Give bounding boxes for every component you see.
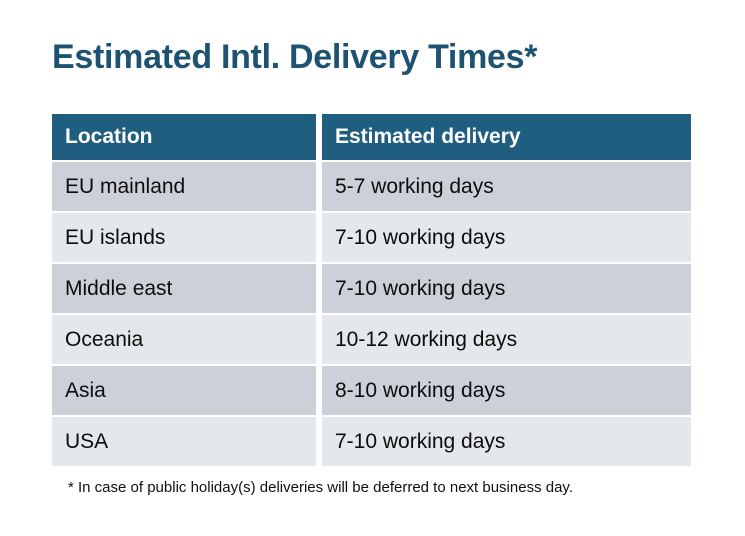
table-row: USA 7-10 working days <box>52 417 691 466</box>
footnote: * In case of public holiday(s) deliverie… <box>68 478 573 498</box>
cell-estimated-delivery: 7-10 working days <box>322 213 691 262</box>
cell-location: USA <box>52 417 316 466</box>
cell-location: Middle east <box>52 264 316 313</box>
table-row: EU islands 7-10 working days <box>52 213 691 262</box>
cell-estimated-delivery: 7-10 working days <box>322 264 691 313</box>
delivery-times-page: Estimated Intl. Delivery Times* Location… <box>0 0 745 536</box>
table-row: Asia 8-10 working days <box>52 366 691 415</box>
cell-location: EU islands <box>52 213 316 262</box>
table-row: Middle east 7-10 working days <box>52 264 691 313</box>
cell-estimated-delivery: 8-10 working days <box>322 366 691 415</box>
cell-location: EU mainland <box>52 162 316 211</box>
table-row: EU mainland 5-7 working days <box>52 162 691 211</box>
delivery-times-table: Location Estimated delivery EU mainland … <box>52 114 691 466</box>
page-title: Estimated Intl. Delivery Times* <box>52 36 537 78</box>
cell-estimated-delivery: 7-10 working days <box>322 417 691 466</box>
cell-estimated-delivery: 10-12 working days <box>322 315 691 364</box>
column-header-estimated-delivery: Estimated delivery <box>322 114 691 160</box>
cell-location: Oceania <box>52 315 316 364</box>
cell-estimated-delivery: 5-7 working days <box>322 162 691 211</box>
table-row: Oceania 10-12 working days <box>52 315 691 364</box>
cell-location: Asia <box>52 366 316 415</box>
column-header-location: Location <box>52 114 316 160</box>
table-header-row: Location Estimated delivery <box>52 114 691 160</box>
